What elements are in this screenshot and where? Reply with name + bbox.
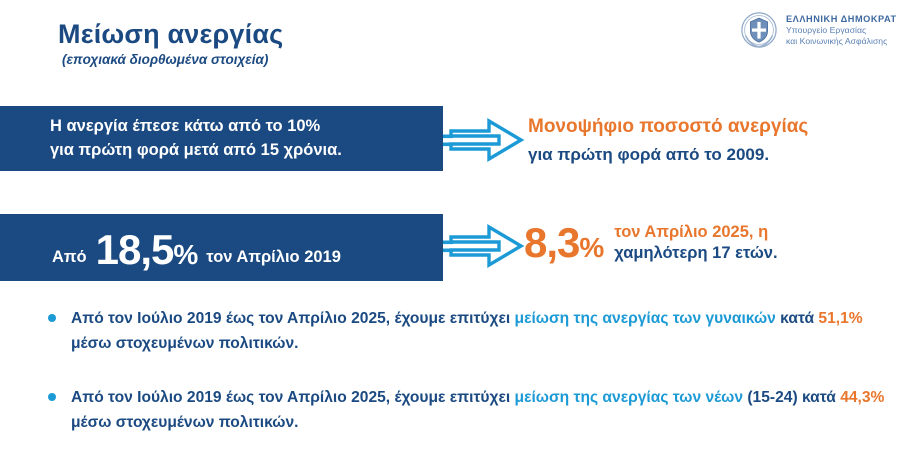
bullet-segment-highlight-orange: 44,3%: [840, 389, 884, 406]
bullet-dot-icon: [48, 393, 56, 401]
bullet-segment-plain: μέσω στοχευμένων πολιτικών.: [71, 414, 298, 431]
right-arrow-icon: [443, 224, 525, 273]
callout-row-2-line-1: τον Απρίλιο 2025, η: [614, 222, 777, 243]
bullet-segment-plain: Από τον Ιούλιο 2019 έως τον Απρίλιο 2025…: [71, 389, 515, 406]
banner-row-2-lead: Από: [52, 248, 87, 267]
ministry-logo: ΕΛΛΗΝΙΚΗ ΔΗΜΟΚΡΑΤ Υπουργείο Εργασίας και…: [740, 11, 898, 49]
list-item: Από τον Ιούλιο 2019 έως τον Απρίλιο 2025…: [48, 385, 893, 436]
bullet-list: Από τον Ιούλιο 2019 έως τον Απρίλιο 2025…: [48, 306, 893, 463]
callout-row-1-line-2: για πρώτη φορά από το 2009.: [528, 143, 808, 167]
callout-row-2-line-2: χαμηλότερη 17 ετών.: [614, 243, 777, 264]
callout-row-2-value-percent: %: [579, 232, 603, 263]
callout-row-1-line-1: Μονοψήφιο ποσοστό ανεργίας: [528, 114, 808, 141]
banner-row-1: Η ανεργία έπεσε κάτω από το 10% για πρώτ…: [0, 106, 443, 171]
greek-coat-of-arms-icon: [740, 11, 778, 49]
bullet-text: Από τον Ιούλιο 2019 έως τον Απρίλιο 2025…: [71, 306, 893, 357]
header: Μείωση ανεργίας (εποχιακά διορθωμένα στο…: [0, 0, 900, 92]
right-arrow-icon: [443, 118, 525, 167]
banner-row-2-value: 18,5%: [96, 226, 198, 274]
logo-line-3: και Κοινωνικής Ασφάλισης: [786, 36, 898, 47]
bullet-segment-plain: μέσω στοχευμένων πολιτικών.: [71, 335, 298, 352]
bullet-segment-plain: (15-24) κατά: [743, 389, 840, 406]
ministry-logo-text: ΕΛΛΗΝΙΚΗ ΔΗΜΟΚΡΑΤ Υπουργείο Εργασίας και…: [786, 13, 898, 48]
callout-row-2-value: 8,3%: [524, 222, 603, 264]
callout-row-2: 8,3% τον Απρίλιο 2025, η χαμηλότερη 17 ε…: [524, 222, 778, 265]
banner-row-2-inner: Από 18,5% τον Απρίλιο 2019: [52, 224, 341, 272]
callout-row-2-text: τον Απρίλιο 2025, η χαμηλότερη 17 ετών.: [614, 222, 777, 265]
bullet-segment-plain: κατά: [776, 310, 819, 327]
banner-row-1-text: Η ανεργία έπεσε κάτω από το 10% για πρώτ…: [50, 115, 342, 163]
list-item: Από τον Ιούλιο 2019 έως τον Απρίλιο 2025…: [48, 306, 893, 357]
banner-row-2-value-number: 18,5: [96, 226, 174, 273]
bullet-segment-highlight-orange: 51,1%: [818, 310, 862, 327]
banner-row-2: Από 18,5% τον Απρίλιο 2019: [0, 214, 443, 281]
callout-row-2-value-number: 8,3: [524, 219, 579, 266]
logo-line-1: ΕΛΛΗΝΙΚΗ ΔΗΜΟΚΡΑΤ: [786, 14, 898, 26]
page-subtitle: (εποχιακά διορθωμένα στοιχεία): [62, 52, 283, 67]
banner-row-1-line-2: για πρώτη φορά μετά από 15 χρόνια.: [50, 141, 342, 159]
logo-line-2: Υπουργείο Εργασίας: [786, 25, 898, 36]
callout-row-1: Μονοψήφιο ποσοστό ανεργίας για πρώτη φορ…: [528, 114, 808, 167]
bullet-segment-highlight-cyan: μείωση της ανεργίας των γυναικών: [515, 310, 776, 327]
bullet-segment-highlight-cyan: μείωση της ανεργίας των νέων: [515, 389, 744, 406]
bullet-text: Από τον Ιούλιο 2019 έως τον Απρίλιο 2025…: [71, 385, 893, 436]
banner-row-2-value-percent: %: [173, 239, 197, 270]
bullet-dot-icon: [48, 314, 56, 322]
banner-row-1-line-1: Η ανεργία έπεσε κάτω από το 10%: [50, 117, 320, 135]
banner-row-2-tail: τον Απρίλιο 2019: [206, 248, 341, 267]
page-title: Μείωση ανεργίας: [58, 20, 283, 48]
title-block: Μείωση ανεργίας (εποχιακά διορθωμένα στο…: [58, 20, 283, 67]
bullet-segment-plain: Από τον Ιούλιο 2019 έως τον Απρίλιο 2025…: [71, 310, 515, 327]
